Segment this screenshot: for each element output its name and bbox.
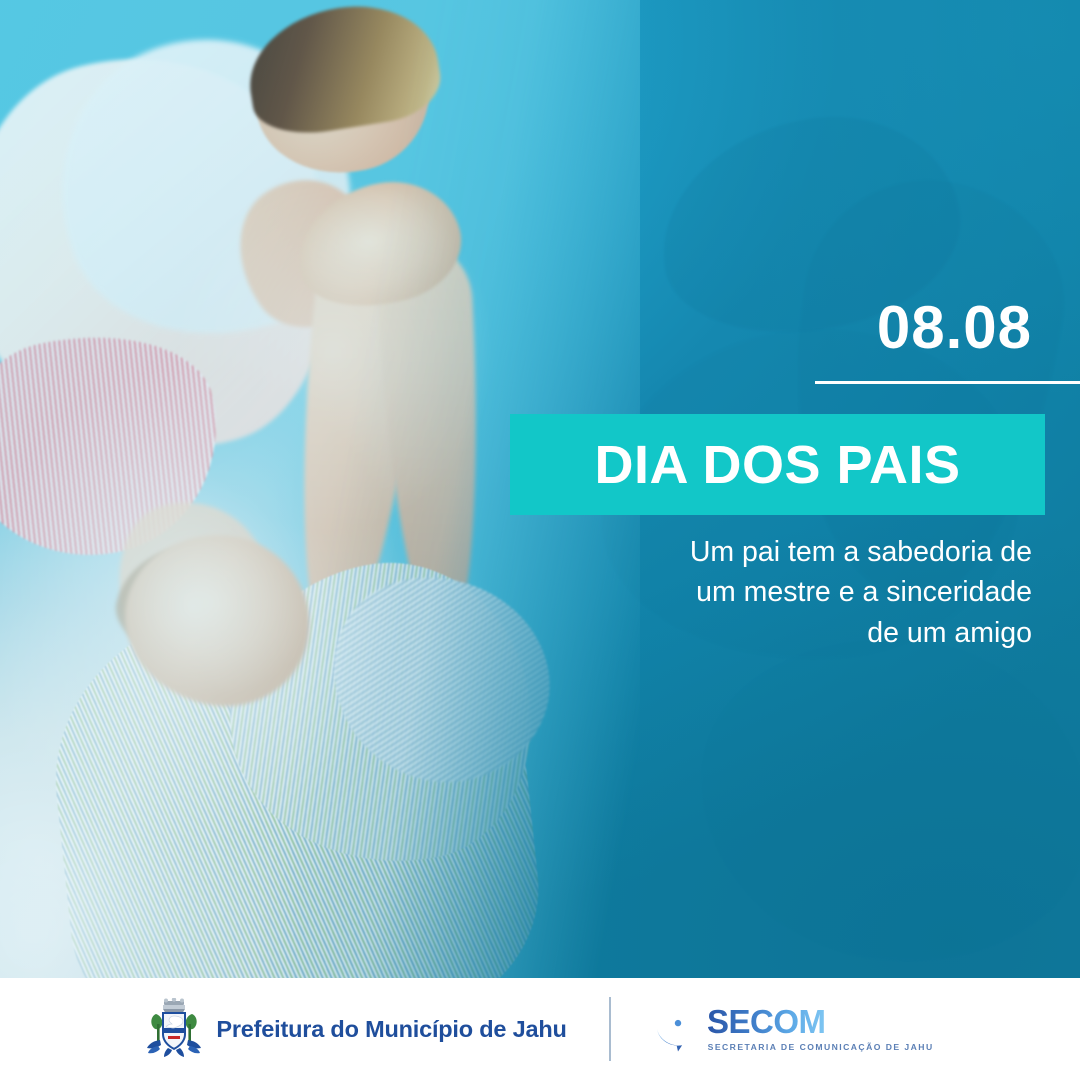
date-underline-rule: [815, 381, 1080, 384]
footer-bar: Prefeitura do Município de Jahu: [0, 978, 1080, 1080]
title-band: DIA DOS PAIS: [510, 414, 1045, 515]
tagline: Um pai tem a sabedoria de um mestre e a …: [592, 532, 1032, 653]
tagline-line-3: de um amigo: [592, 613, 1032, 653]
tagline-line-2: um mestre e a sinceridade: [592, 572, 1032, 612]
secom-logo-lockup[interactable]: SECOM SECRETARIA DE COMUNICAÇÃO DE JAHU: [611, 1006, 934, 1052]
jahu-coat-of-arms-icon: [146, 998, 202, 1060]
prefeitura-name: Prefeitura do Município de Jahu: [216, 1016, 566, 1043]
footer-logos: Prefeitura do Município de Jahu: [146, 997, 933, 1061]
event-date: 08.08: [877, 298, 1032, 358]
secom-location-pin-bubble-icon: [655, 1006, 701, 1052]
poster-canvas: 08.08 DIA DOS PAIS Um pai tem a sabedori…: [0, 0, 1080, 1080]
svg-text:SECOM: SECOM: [707, 1006, 826, 1040]
artwork-area: 08.08 DIA DOS PAIS Um pai tem a sabedori…: [0, 0, 1080, 978]
secom-wordmark: SECOM: [707, 1006, 883, 1040]
tagline-line-1: Um pai tem a sabedoria de: [592, 532, 1032, 572]
secom-wordmark-group: SECOM SECRETARIA DE COMUNICAÇÃO DE JAHU: [707, 1006, 934, 1052]
prefeitura-logo-lockup[interactable]: Prefeitura do Município de Jahu: [146, 998, 608, 1060]
secom-subtitle: SECRETARIA DE COMUNICAÇÃO DE JAHU: [708, 1042, 934, 1052]
poster-title: DIA DOS PAIS: [594, 438, 960, 492]
